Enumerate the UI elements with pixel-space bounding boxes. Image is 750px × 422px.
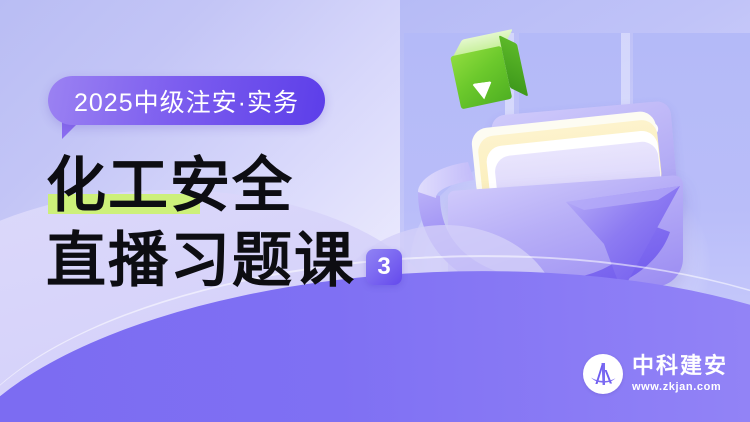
headline-line-2: 直播习题课	[46, 230, 356, 293]
headline-row-2: 直播习题课 3	[46, 230, 466, 293]
play-triangle-icon	[472, 81, 494, 101]
episode-number-badge: 3	[366, 249, 402, 285]
course-category-label: 2025中级注安·实务	[74, 83, 299, 119]
brand-logo-text: 中科建安 www.zkjan.com	[632, 355, 728, 393]
brand-logo: 中科建安 www.zkjan.com	[583, 354, 728, 394]
banner-text-content: 2025中级注安·实务 化工安全 直播习题课 3	[0, 0, 470, 422]
episode-number-label: 3	[377, 255, 390, 279]
brand-url: www.zkjan.com	[632, 382, 728, 393]
zkjan-circle-icon	[583, 354, 623, 394]
headline-block: 化工安全 直播习题课 3	[46, 155, 466, 293]
headline-row-1: 化工安全	[46, 155, 466, 218]
headline-line-1: 化工安全	[46, 155, 294, 218]
brand-name: 中科建安	[632, 355, 728, 377]
course-category-badge: 2025中级注安·实务	[48, 76, 325, 125]
course-banner: 2025中级注安·实务 化工安全 直播习题课 3	[0, 0, 750, 422]
